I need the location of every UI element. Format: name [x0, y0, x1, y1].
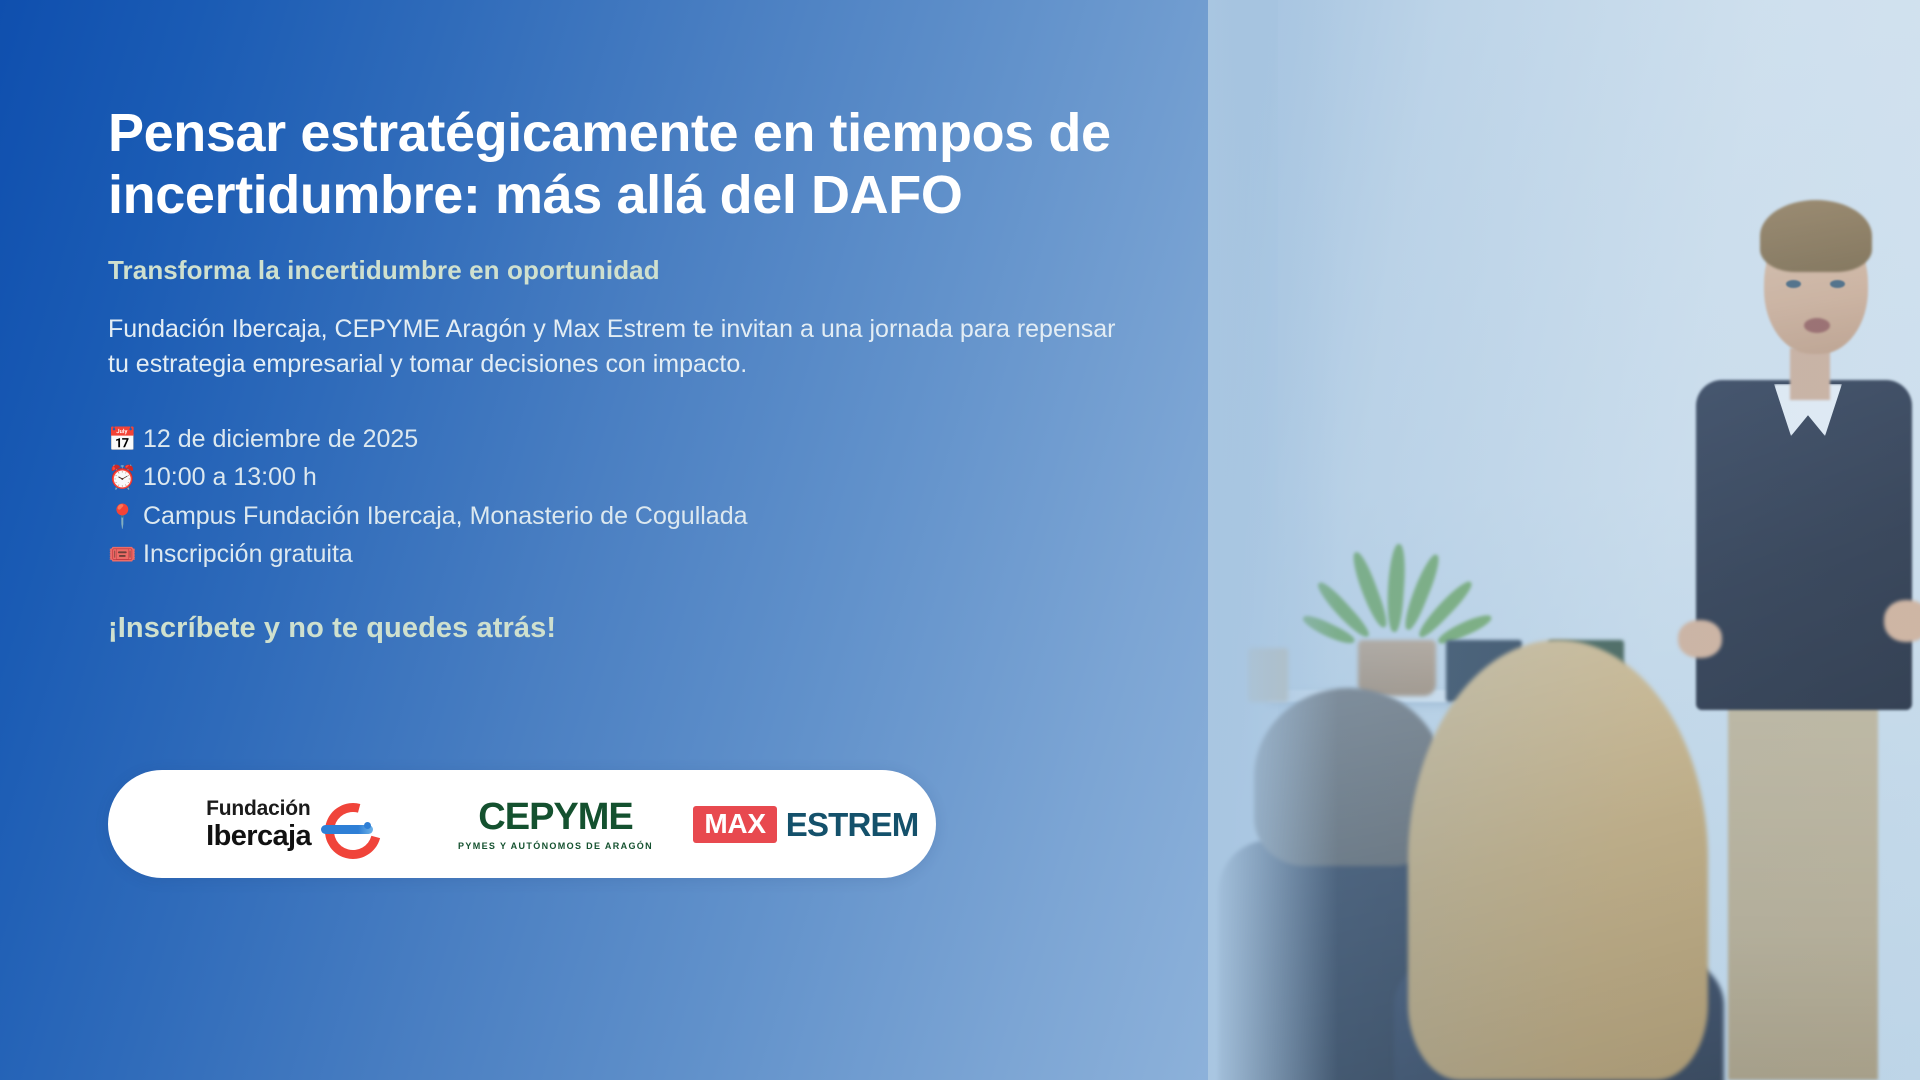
ibercaja-symbol-icon [321, 801, 373, 847]
logo-max-estrem[interactable]: MAX ESTREM [676, 770, 936, 878]
event-photo [1208, 0, 1920, 1080]
ibercaja-logo-line2: Ibercaja [206, 822, 311, 851]
event-price-text: Inscripción gratuita [143, 537, 353, 572]
sponsor-logo-bar: Fundación Ibercaja CEPYME PYMES Y AUTÓNO… [108, 770, 936, 878]
ibercaja-logo-line1: Fundación [206, 798, 311, 819]
event-detail-location: 📍 Campus Fundación Ibercaja, Monasterio … [108, 499, 1188, 534]
event-detail-time: ⏰ 10:00 a 13:00 h [108, 460, 1188, 495]
photo-left-fade [1208, 0, 1338, 1080]
event-description: Fundación Ibercaja, CEPYME Aragón y Max … [108, 312, 1138, 382]
banner-content: Pensar estratégicamente en tiempos de in… [108, 0, 1188, 1080]
logo-cepyme-aragon[interactable]: CEPYME PYMES Y AUTÓNOMOS DE ARAGÓN [435, 770, 676, 878]
event-details-list: 📅 12 de diciembre de 2025 ⏰ 10:00 a 13:0… [108, 422, 1188, 572]
event-title: Pensar estratégicamente en tiempos de in… [108, 0, 1148, 227]
event-time-text: 10:00 a 13:00 h [143, 460, 317, 495]
alarm-clock-icon: ⏰ [108, 466, 134, 489]
event-date-text: 12 de diciembre de 2025 [143, 422, 418, 457]
event-promo-banner: Pensar estratégicamente en tiempos de in… [0, 0, 1920, 1080]
call-to-action-text: ¡Inscríbete y no te quedes atrás! [108, 612, 1188, 645]
calendar-icon: 📅 [108, 428, 134, 451]
event-location-text: Campus Fundación Ibercaja, Monasterio de… [143, 499, 748, 534]
logo-fundacion-ibercaja[interactable]: Fundación Ibercaja [108, 770, 435, 878]
ticket-icon: 🎟️ [108, 543, 134, 566]
estrem-label: ESTREM [786, 808, 919, 841]
event-subtitle: Transforma la incertidumbre en oportunid… [108, 255, 1188, 286]
cepyme-logo-name: CEPYME [478, 798, 632, 836]
event-detail-date: 📅 12 de diciembre de 2025 [108, 422, 1188, 457]
max-badge-label: MAX [693, 806, 776, 843]
event-detail-price: 🎟️ Inscripción gratuita [108, 537, 1188, 572]
cepyme-logo-tagline: PYMES Y AUTÓNOMOS DE ARAGÓN [458, 841, 653, 851]
location-pin-icon: 📍 [108, 505, 134, 528]
